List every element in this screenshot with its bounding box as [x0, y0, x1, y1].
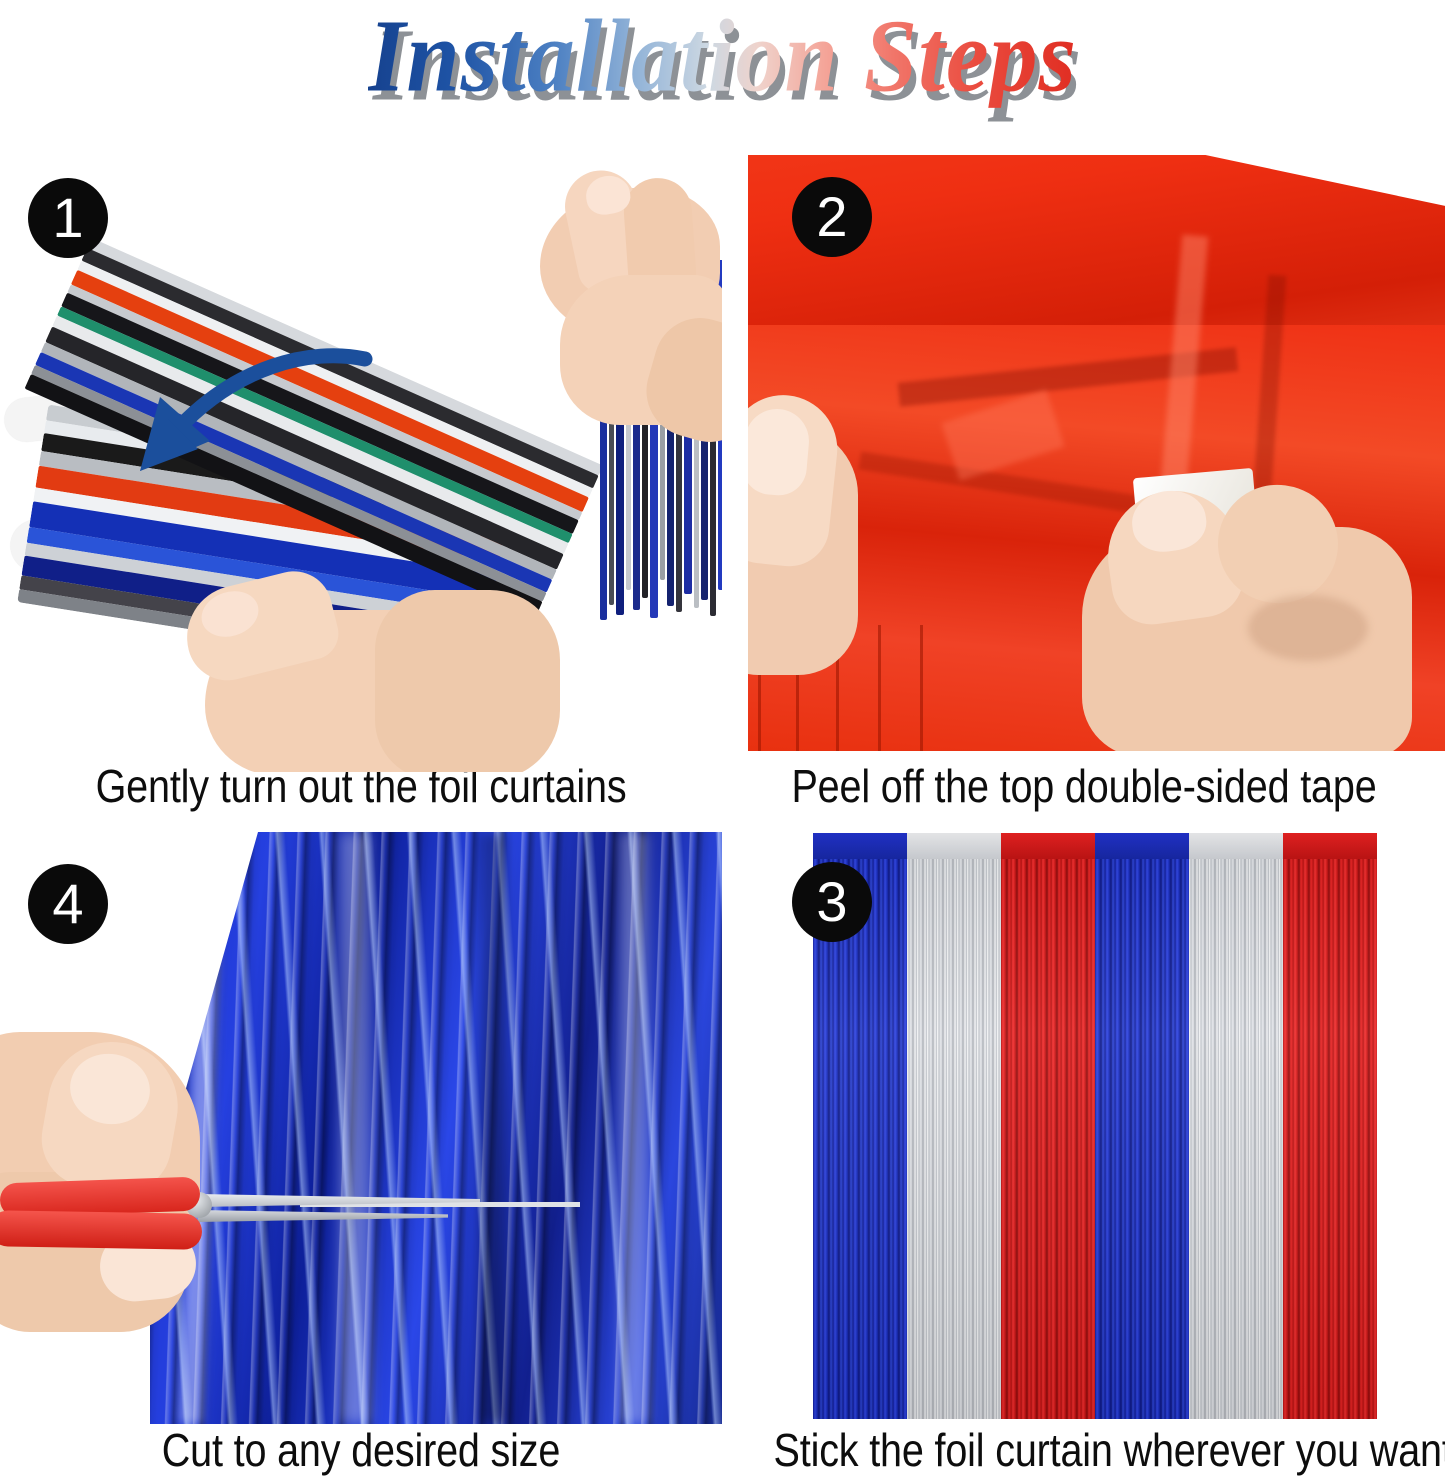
step-4-caption: Cut to any desired size	[51, 1424, 672, 1476]
step-3-caption: Stick the foil curtain wherever you want	[774, 1424, 1395, 1476]
step-4-badge: 4	[28, 864, 108, 944]
scissors-blade-lower	[198, 1210, 448, 1222]
scissors-blade-upper	[198, 1194, 480, 1207]
step-4-photo: 4	[0, 832, 722, 1424]
curtain-stripe-red-1	[1001, 833, 1095, 1419]
step-1-photo: 1	[0, 140, 722, 772]
page-title: Installation Steps	[368, 4, 1077, 108]
curtain-stripe-silver-1	[907, 833, 1001, 1419]
curtain-stripe-blue-2	[1095, 833, 1189, 1419]
step-2-caption: Peel off the top double-sided tape	[774, 760, 1395, 812]
step-3-badge: 3	[792, 862, 872, 942]
curtain-stripe-red-2	[1283, 833, 1377, 1419]
hand-lower	[175, 570, 565, 772]
scissors-handle-lower	[0, 1210, 202, 1250]
hand-right-pinching-tape	[1048, 485, 1445, 751]
scissors	[0, 1162, 480, 1272]
hand-left-holding-foil	[748, 365, 878, 695]
step-1-badge: 1	[28, 178, 108, 258]
step-2-badge: 2	[792, 177, 872, 257]
step-3-photo	[813, 833, 1377, 1419]
page-title-container: Installation Steps Installation Steps	[0, 0, 1445, 112]
hand-upper-right	[530, 170, 722, 440]
curtain-stripe-silver-2	[1189, 833, 1283, 1419]
step-2-photo: 2	[748, 155, 1445, 751]
curved-arrow-icon	[110, 345, 390, 505]
